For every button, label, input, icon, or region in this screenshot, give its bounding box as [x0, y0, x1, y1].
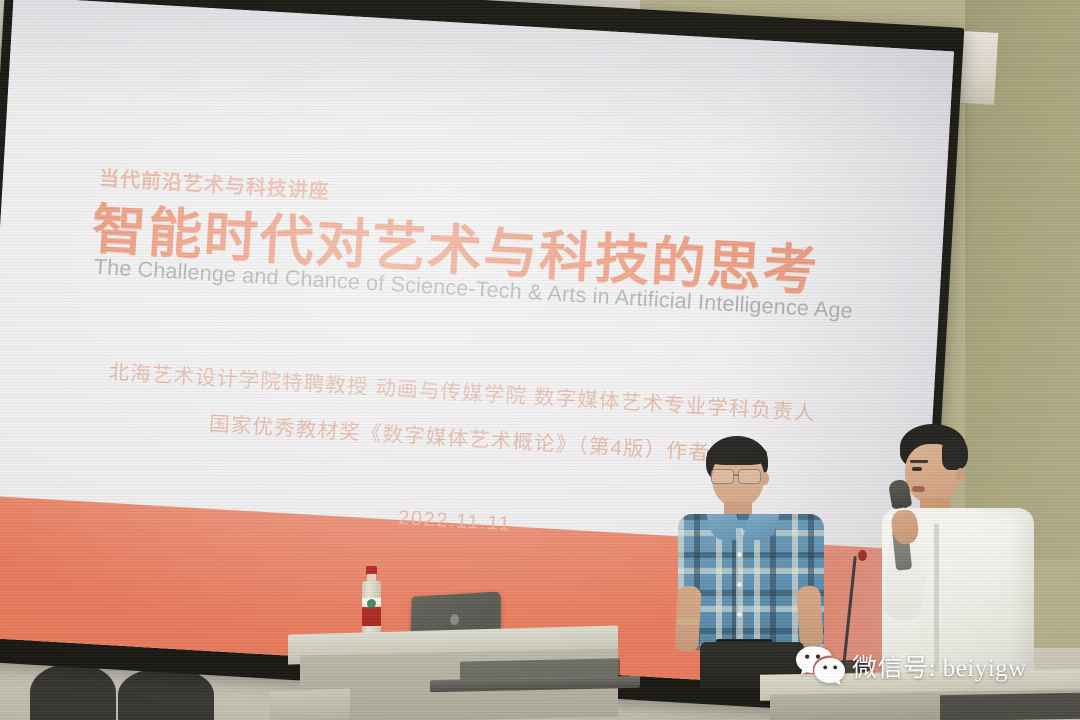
shirt-button	[737, 582, 742, 587]
speaker-right	[872, 424, 1050, 694]
chair-back	[30, 664, 116, 720]
laptop-logo-icon	[450, 614, 459, 625]
speaker-left-placket	[736, 528, 743, 648]
speaker-left	[670, 436, 835, 686]
speaker-right-hair-side	[942, 436, 968, 470]
wristwatch	[677, 618, 699, 625]
glasses-lens-left	[711, 469, 734, 484]
shirt-button	[737, 612, 742, 617]
glasses-lens-right	[738, 469, 761, 484]
speaker-right-eye	[912, 467, 922, 471]
glasses-bridge	[733, 474, 739, 476]
speaker-left-arm	[796, 585, 824, 649]
gooseneck-microphone-base	[826, 660, 872, 674]
speaker-right-ear	[956, 468, 965, 481]
water-bottle	[362, 566, 381, 640]
gooseneck-microphone-icon	[858, 550, 867, 561]
side-table	[270, 689, 350, 720]
speaker-right-placket	[934, 524, 939, 676]
right-desk-opening	[940, 693, 1080, 720]
glasses-icon	[710, 469, 766, 482]
lecture-photo-scene: 当代前沿艺术与科技讲座 智能时代对艺术与科技的思考 The Challenge …	[0, 0, 1080, 720]
speaker-right-brow	[910, 460, 928, 463]
speaker-left-fringe	[707, 443, 767, 465]
speaker-right-mouth	[912, 486, 925, 492]
shirt-button	[737, 552, 742, 557]
chair-back	[118, 668, 214, 720]
